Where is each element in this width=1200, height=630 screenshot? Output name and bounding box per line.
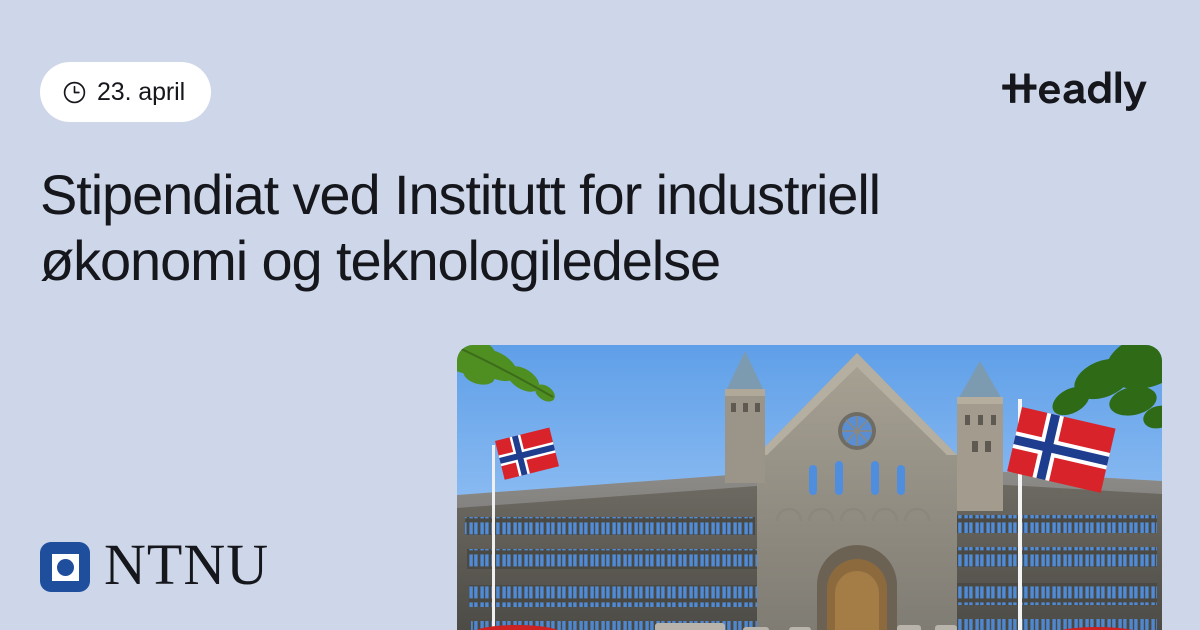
ntnu-building-photo-icon (457, 345, 1162, 630)
ntnu-square-dot-icon (40, 542, 90, 592)
ntnu-logo: NTNU (40, 536, 269, 598)
date-pill: 23. april (40, 62, 211, 122)
headly-wordmark-icon (999, 67, 1162, 111)
ntnu-wordmark: NTNU (104, 536, 269, 598)
clock-icon (62, 80, 87, 105)
date-label: 23. april (97, 78, 185, 107)
ntnu-mark-dot (57, 559, 74, 576)
page-title: Stipendiat ved Institutt for industriell… (40, 162, 1095, 294)
brand-logo[interactable] (999, 63, 1162, 115)
article-photo (457, 345, 1162, 630)
ntnu-mark-inner (52, 554, 79, 581)
